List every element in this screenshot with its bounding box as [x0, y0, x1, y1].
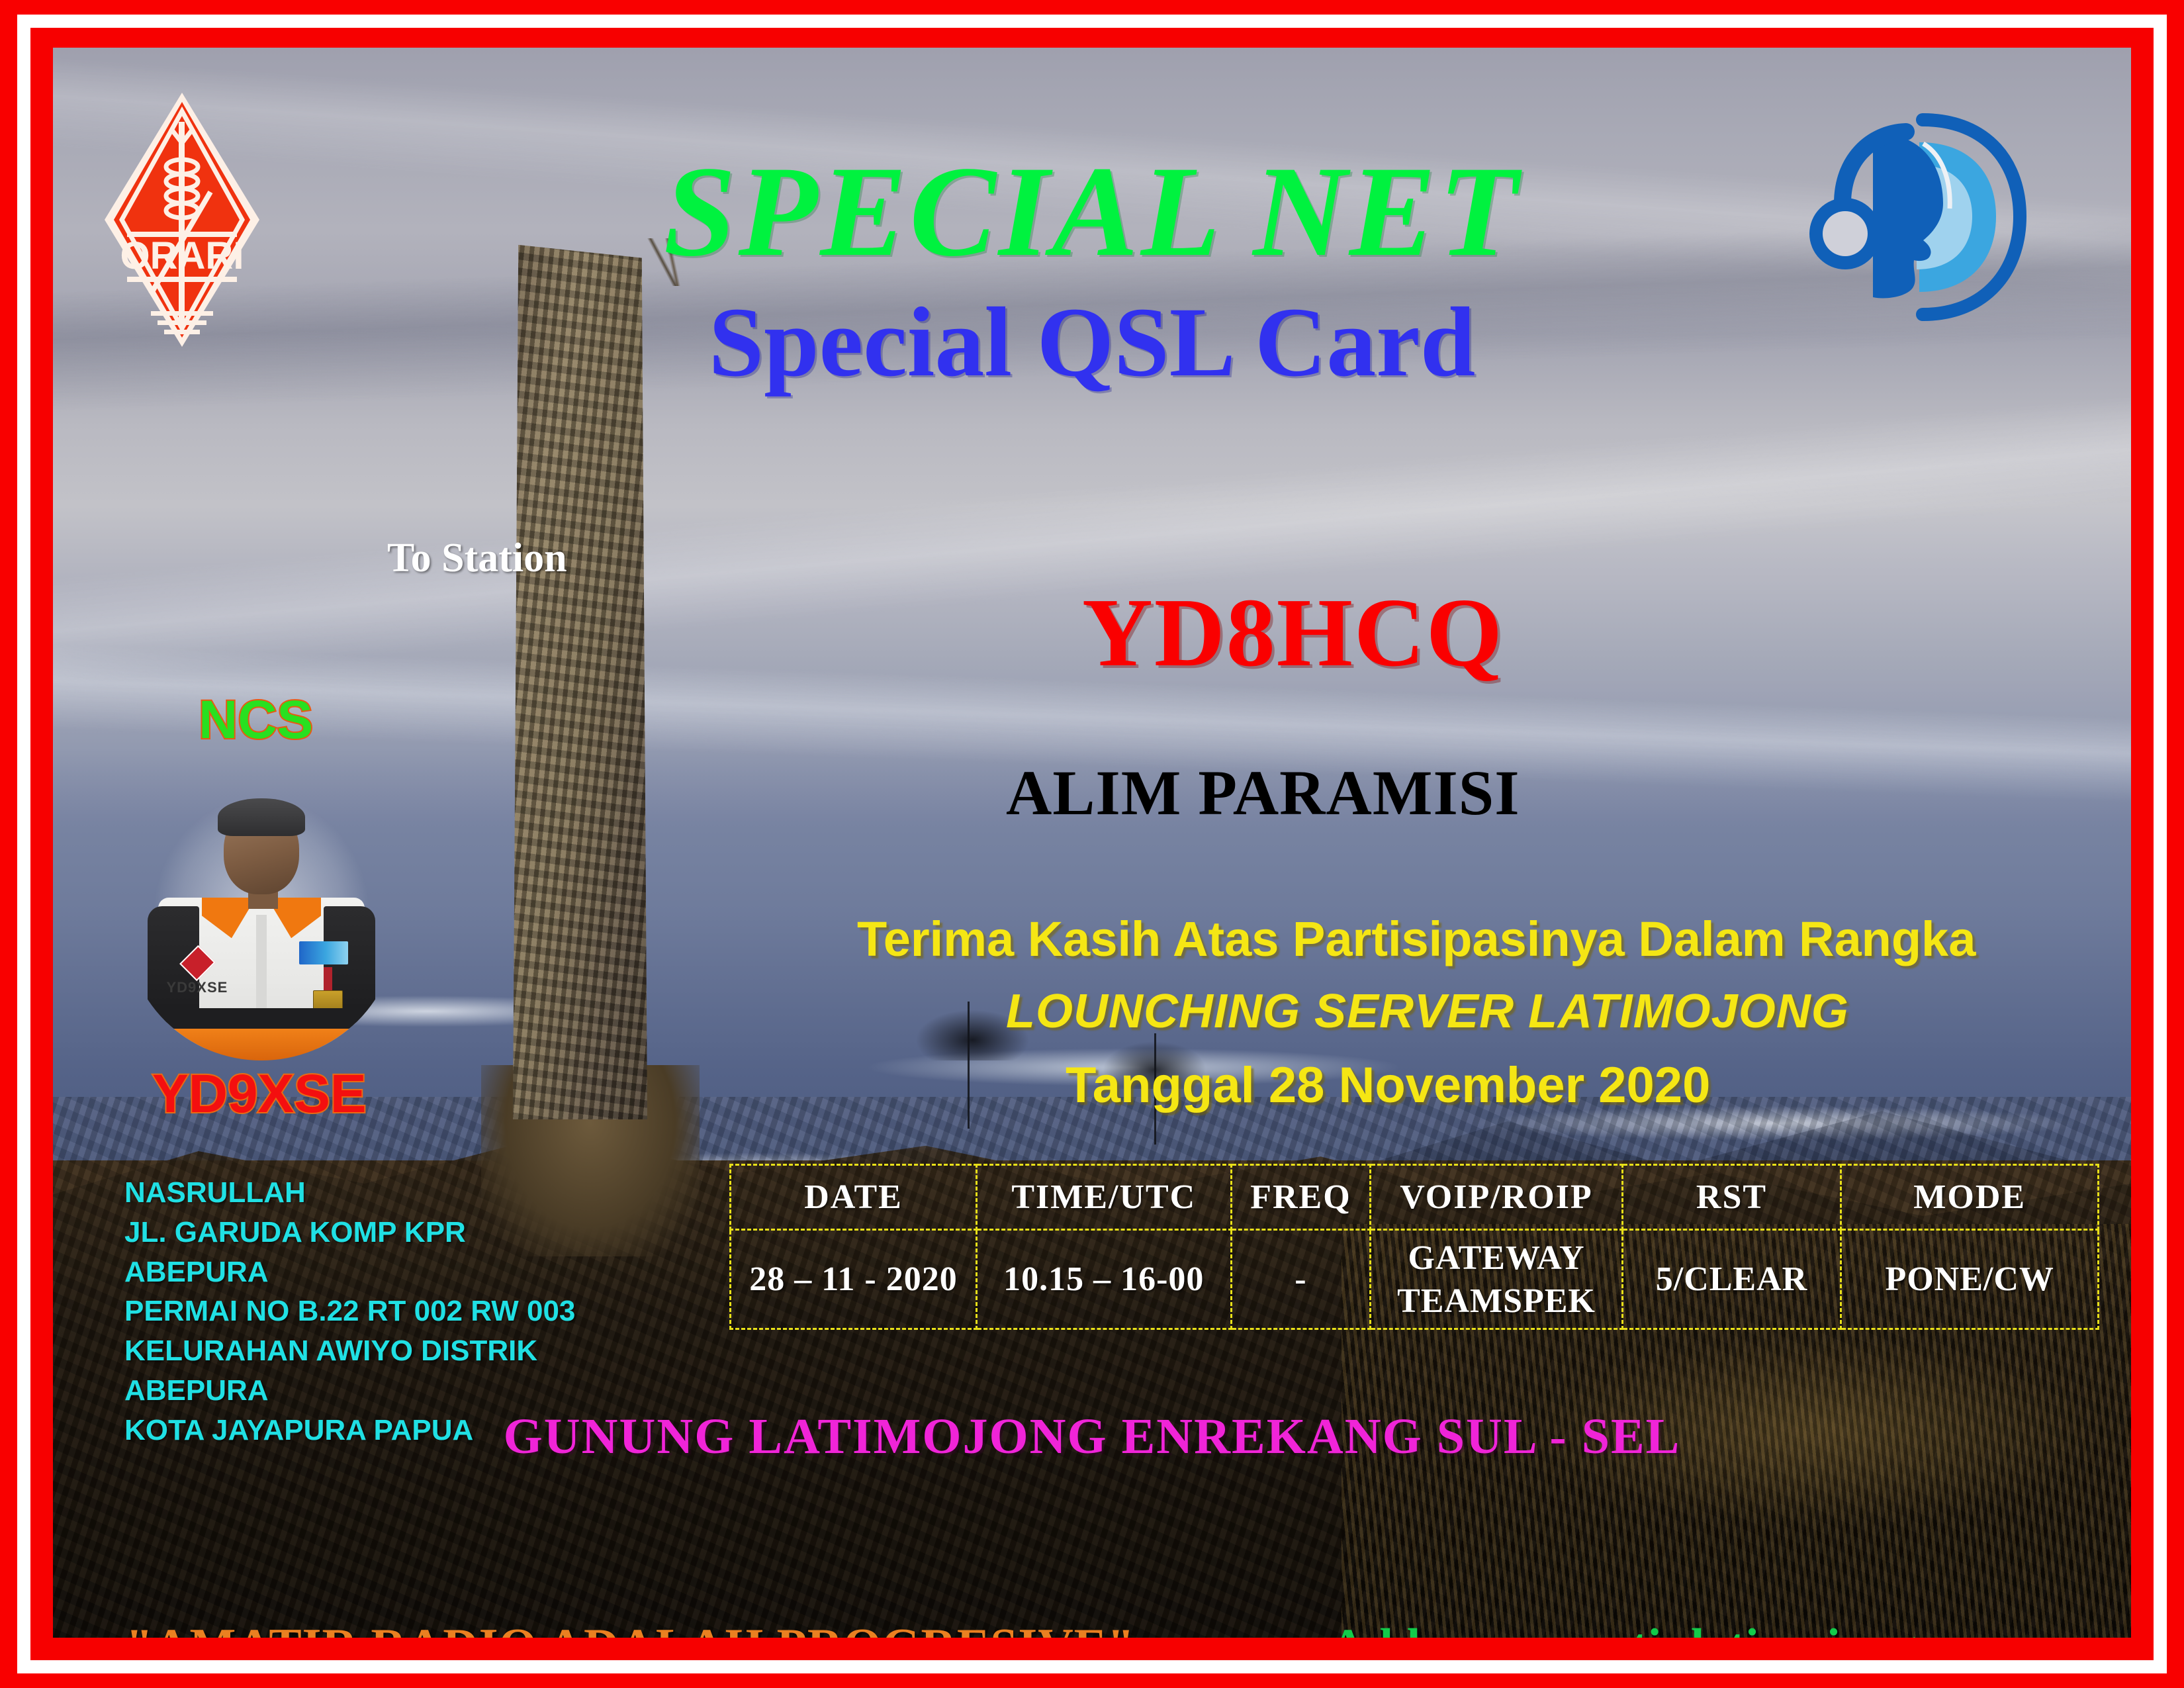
table-header-time: TIME/UTC [977, 1165, 1231, 1230]
address-line: ABEPURA [124, 1252, 575, 1292]
radio-headset-logo [1807, 104, 2032, 329]
orari-logo: ORARI [99, 87, 265, 352]
table-row: 28 – 11 - 2020 10.15 – 16-00 - GATEWAY T… [731, 1230, 2099, 1329]
cell-mode: PONE/CW [1841, 1230, 2099, 1329]
photo-chest-emblem [299, 941, 348, 964]
photo-hair [218, 798, 304, 836]
event-date: Tanggal 28 November 2020 [1066, 1060, 1710, 1111]
address-line: NASRULLAH [124, 1173, 575, 1213]
dx-operator-name: ALIM PARAMISI [1006, 761, 1520, 825]
thanks-message: Terima Kasih Atas Partisipasinya Dalam R… [857, 915, 1976, 964]
page-title: SPECIAL NET [664, 147, 1521, 277]
web-address: Address : amatir.latimojong.com [1330, 1622, 2016, 1638]
cell-rst: 5/CLEAR [1622, 1230, 1841, 1329]
table-header-row: DATE TIME/UTC FREQ VOIP/ROIP RST MODE [731, 1165, 2099, 1230]
ncs-label: NCS [199, 693, 313, 747]
table-header-rst: RST [1622, 1165, 1841, 1230]
photo-lower-uniform [158, 1029, 365, 1060]
address-line: JL. GARUDA KOMP KPR [124, 1213, 575, 1252]
address-line: PERMAI NO B.22 RT 002 RW 003 [124, 1291, 575, 1331]
table-header-mode: MODE [1841, 1165, 2099, 1230]
qsl-card-frame: ORARI [0, 0, 2184, 1688]
cell-voip-line2: TEAMSPEK [1397, 1282, 1596, 1320]
to-station-label: To Station [387, 538, 567, 579]
photo-belt [158, 1008, 365, 1029]
address-line: KELURAHAN AWIYO DISTRIK [124, 1331, 575, 1371]
address-line: ABEPURA [124, 1371, 575, 1411]
cell-time: 10.15 – 16-00 [977, 1230, 1231, 1329]
event-name: LOUNCHING SERVER LATIMOJONG [1006, 988, 1849, 1035]
location-line: GUNUNG LATIMOJONG ENREKANG SUL - SEL [504, 1411, 1681, 1462]
dx-callsign: YD8HCQ [1082, 584, 1504, 682]
stone-cairn-pillar [510, 245, 647, 1119]
table-header-date: DATE [731, 1165, 977, 1230]
photo-shirt-callsign: YD9XSE [167, 979, 228, 996]
card-photo-area: ORARI [53, 48, 2131, 1638]
slogan-text: "AMATIR RADIO ADALAH PROGRESIVE" [126, 1622, 1135, 1638]
orari-logo-text: ORARI [120, 234, 244, 277]
cell-voip-line1: GATEWAY [1408, 1239, 1584, 1277]
qso-log-table: DATE TIME/UTC FREQ VOIP/ROIP RST MODE 28… [729, 1164, 2099, 1330]
table-header-freq: FREQ [1231, 1165, 1371, 1230]
cell-date: 28 – 11 - 2020 [731, 1230, 977, 1329]
ncs-callsign: YD9XSE [152, 1067, 367, 1121]
ncs-operator-photo: YD9XSE [126, 769, 397, 1060]
cell-freq: - [1231, 1230, 1371, 1329]
table-header-voip: VOIP/ROIP [1371, 1165, 1622, 1230]
page-subtitle: Special QSL Card [709, 293, 1476, 392]
cell-voip: GATEWAY TEAMSPEK [1371, 1230, 1622, 1329]
